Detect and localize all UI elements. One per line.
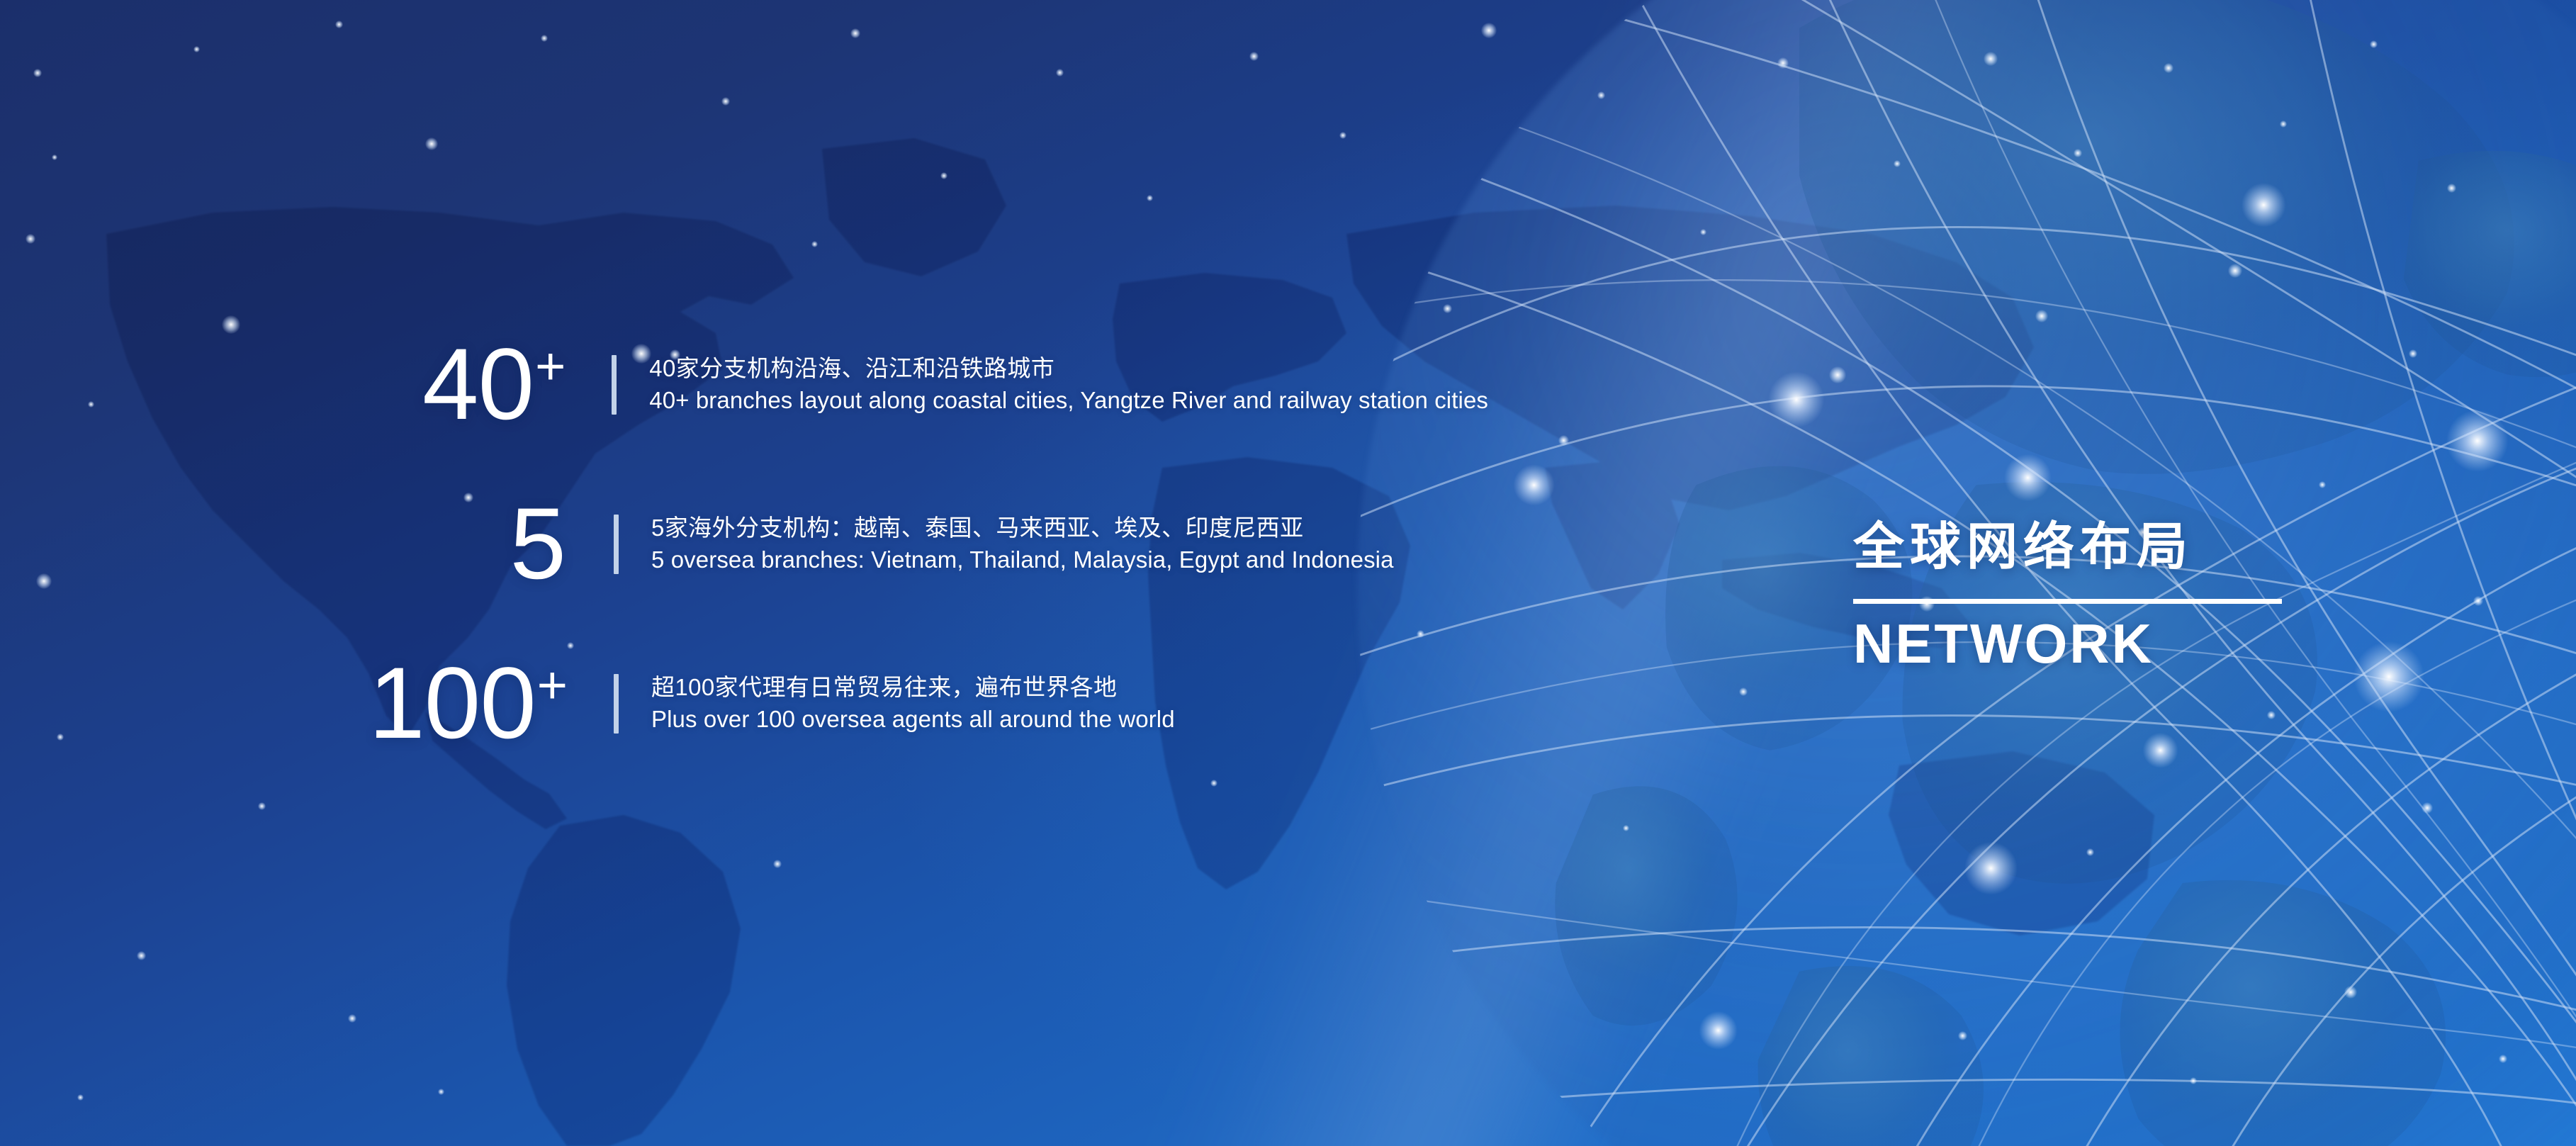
stat-number-value: 100 bbox=[369, 647, 536, 760]
stat-text-en: 40+ branches layout along coastal cities… bbox=[649, 385, 1488, 417]
global-network-banner: 40+ 40家分支机构沿海、沿江和沿铁路城市 40+ branches layo… bbox=[0, 0, 2576, 1146]
stat-number: 5 bbox=[0, 493, 567, 595]
stat-text-cn: 5家海外分支机构：越南、泰国、马来西亚、埃及、印度尼西亚 bbox=[651, 512, 1394, 544]
section-title-block: 全球网络布局 NETWORK bbox=[1853, 521, 2307, 673]
stat-text-cn: 40家分支机构沿海、沿江和沿铁路城市 bbox=[649, 353, 1488, 385]
stat-divider bbox=[614, 515, 619, 574]
stat-text: 40家分支机构沿海、沿江和沿铁路城市 40+ branches layout a… bbox=[649, 353, 1488, 417]
stat-text: 5家海外分支机构：越南、泰国、马来西亚、埃及、印度尼西亚 5 oversea b… bbox=[651, 512, 1394, 576]
stat-row: 5 5家海外分支机构：越南、泰国、马来西亚、埃及、印度尼西亚 5 oversea… bbox=[0, 464, 1488, 624]
stat-divider bbox=[614, 674, 619, 734]
stat-text-cn: 超100家代理有日常贸易往来，遍布世界各地 bbox=[651, 672, 1175, 704]
stat-text: 超100家代理有日常贸易往来，遍布世界各地 Plus over 100 over… bbox=[651, 672, 1175, 736]
stats-list: 40+ 40家分支机构沿海、沿江和沿铁路城市 40+ branches layo… bbox=[0, 305, 1488, 783]
stat-text-en: 5 oversea branches: Vietnam, Thailand, M… bbox=[651, 544, 1394, 576]
stat-number-suffix: + bbox=[535, 337, 565, 395]
stat-divider bbox=[612, 355, 617, 415]
title-underline bbox=[1853, 599, 2282, 604]
stat-number-value: 40 bbox=[422, 328, 534, 441]
section-title-cn: 全球网络布局 bbox=[1853, 521, 2307, 575]
section-title-en: NETWORK bbox=[1853, 615, 2307, 673]
stat-text-en: Plus over 100 oversea agents all around … bbox=[651, 704, 1175, 736]
stat-number: 100+ bbox=[0, 653, 567, 754]
stat-row: 40+ 40家分支机构沿海、沿江和沿铁路城市 40+ branches layo… bbox=[0, 305, 1488, 464]
stat-number-suffix: + bbox=[537, 656, 567, 714]
stat-row: 100+ 超100家代理有日常贸易往来，遍布世界各地 Plus over 100… bbox=[0, 624, 1488, 783]
stat-number: 40+ bbox=[0, 334, 565, 435]
stat-number-value: 5 bbox=[510, 488, 566, 600]
